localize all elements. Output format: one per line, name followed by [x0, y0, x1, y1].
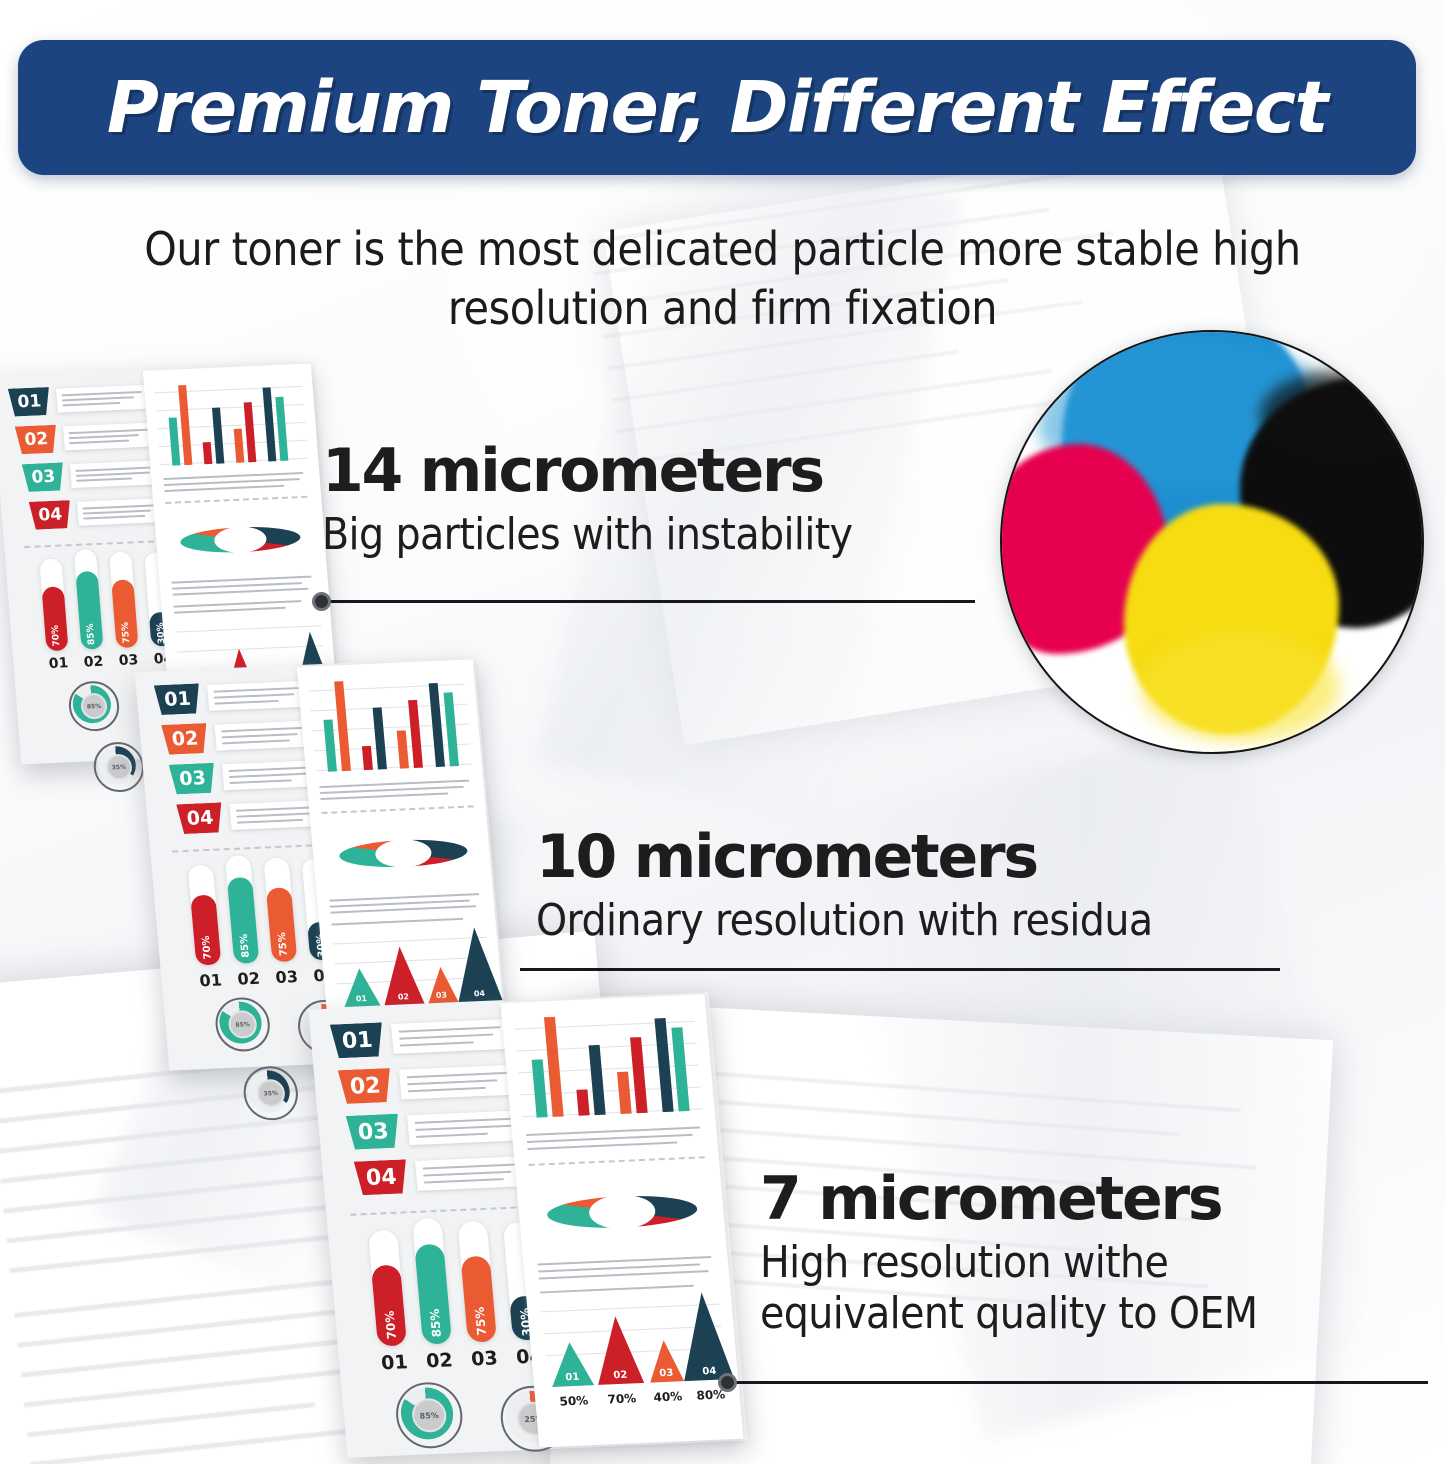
- subtitle-line-1: Our toner is the most delicated particle…: [100, 220, 1345, 279]
- column-bar: [169, 417, 181, 465]
- donut-ring-chart: [337, 822, 470, 885]
- callout-14-rule-dot: [312, 592, 331, 611]
- vertical-bar-01-label: 01: [45, 655, 72, 672]
- column-bar: [362, 746, 373, 770]
- number-tag-04: 04: [29, 500, 72, 530]
- subtitle: Our toner is the most delicated particle…: [100, 220, 1345, 338]
- number-tag-01: 01: [154, 683, 202, 715]
- number-tag-row: 04: [354, 1154, 538, 1196]
- column-bar: [178, 385, 192, 465]
- column-bar: [408, 700, 423, 768]
- callout-14-rule: [320, 600, 975, 603]
- number-tag-03: 03: [346, 1114, 401, 1150]
- callout-14-micrometers: 14 micrometers Big particles with instab…: [322, 440, 992, 560]
- number-tag-02-text: [399, 1064, 522, 1099]
- column-bar: [576, 1089, 589, 1115]
- column-bar: [589, 1045, 606, 1115]
- column-bar: [671, 1027, 689, 1111]
- column-bar: [275, 397, 288, 461]
- callout-14-description: Big particles with instability: [322, 509, 992, 560]
- callout-7-rule-dot: [718, 1373, 737, 1392]
- number-tag-01: 01: [8, 387, 51, 417]
- number-tag-01-text: [391, 1019, 514, 1054]
- column-bar: [323, 720, 337, 772]
- column-bar: [234, 429, 245, 463]
- number-tag-row: 02: [338, 1062, 522, 1104]
- number-tag-row: 02: [15, 420, 161, 454]
- number-tag-row: 03: [22, 458, 168, 492]
- number-tag-04: 04: [176, 802, 224, 834]
- divider-dashed: [350, 1206, 526, 1216]
- number-tag-04: 04: [354, 1159, 409, 1195]
- callout-10-micrometers: 10 micrometers Ordinary resolution with …: [536, 826, 1296, 946]
- callout-7-rule: [728, 1381, 1428, 1384]
- triangle-02-percent: 70%: [607, 1391, 637, 1406]
- number-tag-row: 01: [154, 678, 314, 715]
- number-tag-01: 01: [330, 1022, 385, 1058]
- triangle-01-percent: 50%: [559, 1393, 589, 1408]
- triangle-01-label: 01: [356, 994, 368, 1003]
- triangle-02-label: 02: [398, 992, 410, 1001]
- column-bar: [334, 681, 351, 771]
- column-bar: [544, 1017, 564, 1117]
- callout-10-description: Ordinary resolution with residua: [536, 895, 1296, 946]
- column-bar: [203, 442, 213, 464]
- number-tag-01-text: [56, 385, 154, 413]
- cmyk-toner-powder-image: [1000, 330, 1424, 754]
- triangle-03-label: 03: [436, 991, 448, 1000]
- vertical-bar-03-label: 03: [115, 652, 142, 669]
- vertical-bar-02-label: 02: [422, 1349, 458, 1372]
- vertical-bar-01-label: 01: [377, 1351, 413, 1374]
- triangle-03-label: 03: [659, 1368, 674, 1380]
- number-tag-03: 03: [169, 763, 217, 795]
- callout-7-description: High resolution withe: [760, 1237, 1380, 1288]
- header-banner: Premium Toner, Different Effect: [18, 40, 1416, 175]
- callout-10-size: 10 micrometers: [536, 826, 1296, 888]
- divider-dashed: [24, 540, 164, 548]
- column-bar: [617, 1072, 632, 1114]
- triangle-02-label: 02: [613, 1370, 628, 1382]
- page-title: Premium Toner, Different Effect: [107, 66, 1327, 149]
- infographic-sheet-3: 01 02 03 04: [308, 992, 747, 1458]
- callout-7-micrometers: 7 micrometers High resolution withe equi…: [760, 1168, 1380, 1339]
- callout-10-rule: [520, 968, 1280, 971]
- divider-dashed: [172, 844, 322, 853]
- number-tag-02: 02: [338, 1068, 393, 1104]
- column-bar: [373, 707, 387, 769]
- number-tag-02: 02: [161, 723, 209, 755]
- triangle-03-percent: 40%: [653, 1389, 683, 1404]
- vertical-bar-03-label: 03: [271, 967, 303, 987]
- number-tag-02: 02: [15, 425, 58, 455]
- vertical-bar-03-label: 03: [467, 1347, 503, 1370]
- triangle-04-label: 04: [702, 1366, 717, 1378]
- donut-ring-chart: [178, 510, 302, 569]
- callout-7-description-line2: equivalent quality to OEM: [760, 1288, 1380, 1339]
- vertical-bar-02-label: 02: [80, 654, 107, 671]
- vertical-bar-02-label: 02: [233, 969, 265, 989]
- donut-ring-chart: [544, 1175, 700, 1249]
- callout-14-size: 14 micrometers: [322, 440, 992, 502]
- sheet-3-right-panel: 01 50% 02 70% 03 40% 04 80%: [501, 994, 744, 1447]
- column-bar: [263, 387, 277, 461]
- column-bar: [532, 1059, 548, 1117]
- number-tag-03: 03: [22, 462, 65, 492]
- infographic-canvas: Premium Toner, Different Effect Our tone…: [0, 0, 1445, 1464]
- column-bar: [397, 730, 409, 768]
- column-bar: [212, 408, 224, 464]
- triangle-04-label: 04: [474, 989, 486, 998]
- number-tag-row: 01: [330, 1017, 514, 1059]
- callout-7-size: 7 micrometers: [760, 1168, 1380, 1230]
- number-tag-row: 02: [161, 718, 321, 755]
- number-tag-02-text: [63, 422, 161, 450]
- vertical-bar-01-label: 01: [195, 970, 227, 990]
- number-tag-row: 01: [8, 383, 154, 417]
- column-bar: [630, 1037, 648, 1113]
- triangle-01-label: 01: [565, 1372, 580, 1384]
- number-tag-01-text: [207, 680, 313, 710]
- subtitle-line-2: resolution and firm fixation: [100, 279, 1345, 338]
- number-tag-row: 03: [346, 1108, 530, 1150]
- column-bar: [244, 402, 257, 462]
- powder-pile-black-spray: [1260, 370, 1424, 460]
- powder-pile-yellow-spray: [1140, 632, 1340, 742]
